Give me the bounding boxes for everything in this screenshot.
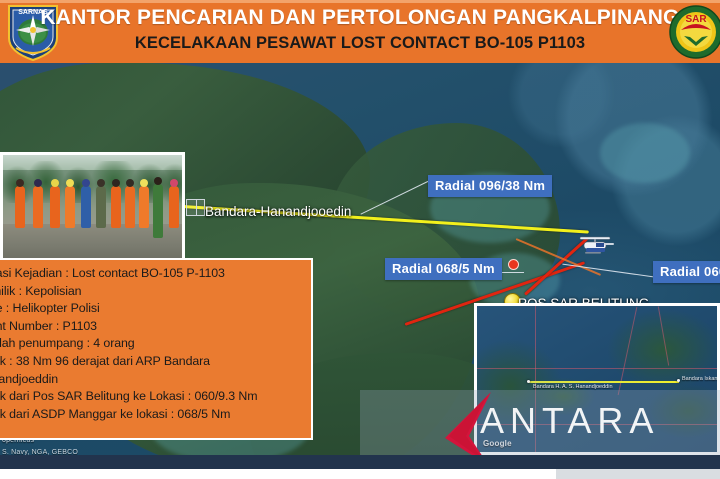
header-banner: SARNAS KANTOR PENCARIAN DAN PERTOLONGAN … xyxy=(0,0,720,63)
photo-person xyxy=(65,186,75,228)
radial-label-060: Radial 060 xyxy=(653,261,720,283)
reef-shallow-4 xyxy=(600,123,690,183)
antara-watermark-text: ANTARA xyxy=(480,400,659,442)
sar-circular-emblem: SAR xyxy=(668,4,720,60)
bottom-navy-band xyxy=(0,455,720,469)
inset-destination-marker[interactable] xyxy=(677,379,680,382)
inset-route-line xyxy=(529,381,679,383)
page-subtitle: KECELAKAAN PESAWAT LOST CONTACT BO-105 P… xyxy=(0,34,720,53)
inset-boundary-line xyxy=(477,368,720,369)
incident-info-box: Lokasi Kejadian : Lost contact BO-105 P-… xyxy=(0,258,313,440)
photo-inset-sar-team xyxy=(0,152,185,262)
radial-label-068: Radial 068/5 Nm xyxy=(385,258,502,280)
info-row: Hanandjoeddin xyxy=(0,371,305,389)
header-top-accent-line xyxy=(0,0,720,3)
photo-person xyxy=(15,186,25,228)
photo-person xyxy=(139,186,149,228)
photo-person xyxy=(153,184,163,238)
photo-person xyxy=(96,186,106,228)
photo-person xyxy=(33,186,43,228)
photo-person xyxy=(169,186,179,228)
photo-person xyxy=(125,186,135,228)
inset-origin-marker[interactable] xyxy=(527,380,530,383)
info-row: Jarak dari ASDP Manggar ke lokasi : 068/… xyxy=(0,406,305,424)
info-row: Type : Helikopter Polisi xyxy=(0,300,305,318)
airport-label: Bandara-Hanandjooedin xyxy=(205,204,351,219)
info-row: Jumlah penumpang : 4 orang xyxy=(0,335,305,353)
airport-marker-icon[interactable] xyxy=(186,199,205,216)
radial-label-096: Radial 096/38 Nm xyxy=(428,175,552,197)
infographic-screenshot: SARNAS KANTOR PENCARIAN DAN PERTOLONGAN … xyxy=(0,0,720,479)
info-row: Jarak : 38 Nm 96 derajat dari ARP Bandar… xyxy=(0,353,305,371)
photo-person xyxy=(50,186,60,228)
bottom-grey-band xyxy=(556,469,720,479)
incident-pin-icon[interactable] xyxy=(508,259,519,270)
info-row: Lokasi Kejadian : Lost contact BO-105 P-… xyxy=(0,265,305,283)
photo-person xyxy=(81,186,91,228)
info-row: Flight Number : P1103 xyxy=(0,318,305,336)
page-title: KANTOR PENCARIAN DAN PERTOLONGAN PANGKAL… xyxy=(0,6,720,30)
info-row: Jarak dari Pos SAR Belitung ke Lokasi : … xyxy=(0,388,305,406)
info-row: Pemilik : Kepolisian xyxy=(0,283,305,301)
logo-right-text: SAR xyxy=(685,14,707,25)
helicopter-icon[interactable] xyxy=(576,235,616,257)
photo-person xyxy=(111,186,121,228)
inset-destination-label: Bandara Iskandar Pangkalan Bun xyxy=(682,376,720,382)
